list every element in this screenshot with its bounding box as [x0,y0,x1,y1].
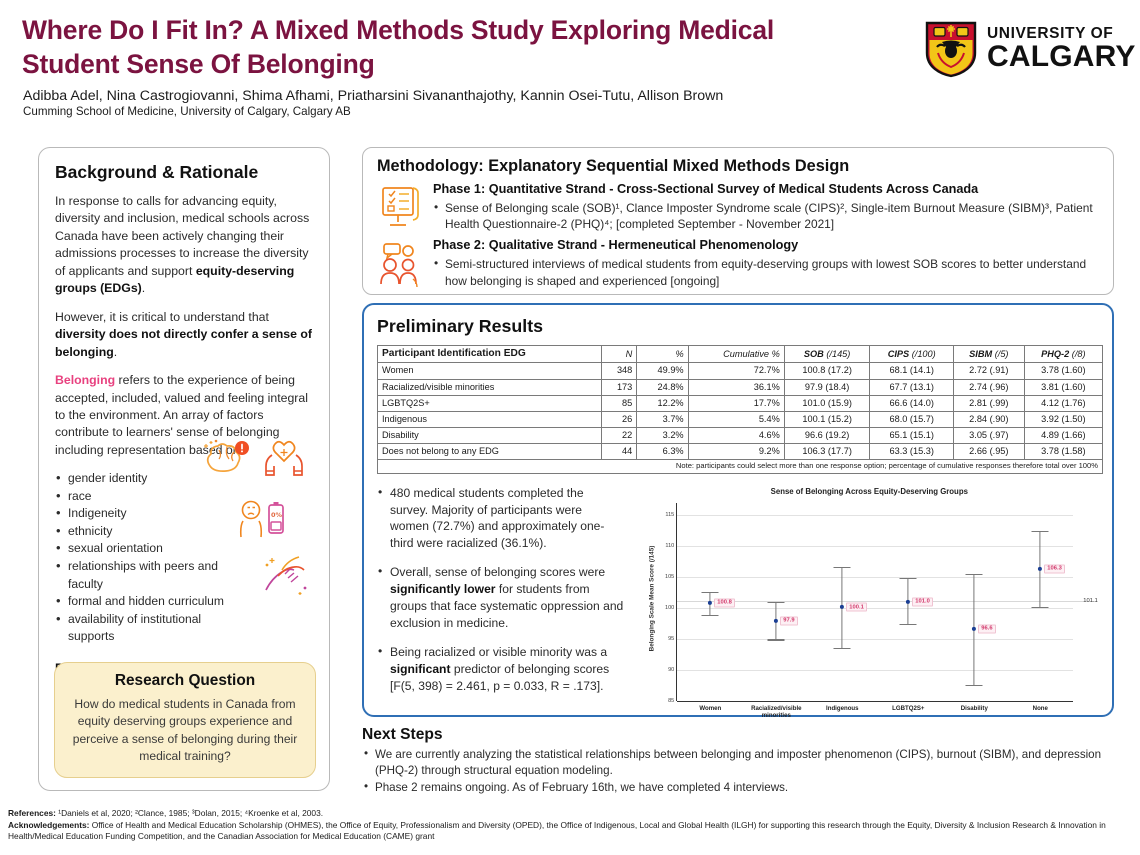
bullet-3-a: Being racialized or visible minority was… [390,645,607,659]
author-list: Adibba Adel, Nina Castrogiovanni, Shima … [23,88,923,105]
chart-x-tick: None [1005,705,1075,712]
table-row: Disability 22 3.2% 4.6% 96.6 (19.2) 65.1… [378,427,1103,443]
cell-n: 85 [601,395,637,411]
poster-footer: References: ¹Daniels et al, 2020; ²Clanc… [8,808,1132,843]
col-header-sibm-sub: (/5) [995,349,1009,359]
cell-sibm: 2.81 (.99) [953,395,1024,411]
cell-n: 44 [601,443,637,459]
chart-y-tick: 100 [665,605,674,611]
results-heading: Preliminary Results [377,316,1099,337]
chart-title: Sense of Belonging Across Equity-Deservi… [638,487,1100,496]
cell-sibm: 2.74 (.96) [953,379,1024,395]
col-header-phq-sub: (/8) [1072,349,1086,359]
cell-sob: 97.9 (18.4) [784,379,870,395]
cell-cips: 65.1 (15.1) [870,427,953,443]
belonging-keyword: Belonging [55,373,115,387]
cell-cips: 63.3 (15.3) [870,443,953,459]
col-header-phq: PHQ-2 (/8) [1024,346,1102,363]
phase-2-list: Semi-structured interviews of medical st… [433,256,1099,290]
results-table: Participant Identification EDG N % Cumul… [377,345,1103,474]
results-lower: 480 medical students completed the surve… [377,485,1099,729]
col-header-pct-text: % [675,349,683,359]
col-header-edg: Participant Identification EDG [378,346,602,363]
chart-point-label: 100.8 [714,598,735,607]
list-item: Sense of Belonging scale (SOB)¹, Clance … [433,200,1099,234]
cell-cumpct: 36.1% [688,379,784,395]
background-paragraph-3: Belonging refers to the experience of be… [55,372,313,459]
next-steps-list: We are currently analyzing the statistic… [362,747,1114,796]
calgary-shield-icon [925,20,977,78]
chart-error-cap [900,624,917,625]
factors-list: gender identity race Indigeneity ethnici… [55,470,313,645]
chart-error-cap [834,648,851,649]
chart-point-label: 100.1 [846,603,867,612]
chart-y-tick: 85 [668,698,674,704]
col-header-cumpct-text: Cumulative % [723,349,780,359]
col-header-sibm: SIBM (/5) [953,346,1024,363]
background-rationale-card: Background & Rationale In response to ca… [38,147,330,791]
table-row: Racialized/visible minorities 173 24.8% … [378,379,1103,395]
poster-root: Where Do I Fit In? A Mixed Methods Study… [0,0,1140,855]
table-note-row: Note: participants could select more tha… [378,459,1103,473]
table-row: Does not belong to any EDG 44 6.3% 9.2% … [378,443,1103,459]
bg-p2-a: However, it is critical to understand th… [55,310,269,324]
cell-sob: 100.1 (15.2) [784,411,870,427]
phase-1-body: Phase 1: Quantitative Strand - Cross-Sec… [433,181,1099,233]
poster-header: Where Do I Fit In? A Mixed Methods Study… [0,0,1140,128]
university-logo: UNIVERSITY OF CALGARY [925,18,1115,80]
chart-y-tick: 90 [668,667,674,673]
chart-point-label: 96.6 [978,624,995,633]
chart-gridline: 85 [677,701,1073,702]
cell-phq: 3.92 (1.50) [1024,411,1102,427]
list-item: sexual orientation [55,540,231,558]
col-header-cumpct: Cumulative % [688,346,784,363]
chart-gridline: 110 [677,546,1073,547]
cell-cips: 68.1 (14.1) [870,363,953,379]
phase-1-block: Phase 1: Quantitative Strand - Cross-Sec… [377,181,1099,233]
chart-x-tick: LGBTQ2S+ [873,705,943,712]
page-title: Where Do I Fit In? A Mixed Methods Study… [22,14,822,82]
phase-1-list: Sense of Belonging scale (SOB)¹, Clance … [433,200,1099,234]
table-header-row: Participant Identification EDG N % Cumul… [378,346,1103,363]
cell-phq: 3.78 (1.60) [1024,363,1102,379]
cell-phq: 4.89 (1.66) [1024,427,1102,443]
chart-error-cap [768,602,785,603]
col-header-cips: CIPS (/100) [870,346,953,363]
chart-error-cap [702,615,719,616]
cell-sibm: 3.05 (.97) [953,427,1024,443]
chart-error-cap [768,639,785,640]
list-item: Overall, sense of belonging scores were … [377,564,624,632]
phase-2-body: Phase 2: Qualitative Strand - Hermeneuti… [433,237,1099,289]
chart-y-tick: 95 [668,636,674,642]
chart-gridline: 105 [677,577,1073,578]
preliminary-results-card: Preliminary Results Participant Identifi… [362,303,1114,717]
bg-p2-bold: diversity does not directly confer a sen… [55,327,312,358]
survey-monitor-icon [377,183,423,233]
next-steps-heading: Next Steps [362,726,1114,744]
chart-data-point [906,600,910,604]
list-item: ethnicity [55,523,231,541]
cell-cips: 68.0 (15.7) [870,411,953,427]
cell-sob: 96.6 (19.2) [784,427,870,443]
cell-cips: 67.7 (13.1) [870,379,953,395]
chart-error-cap [966,574,983,575]
chart-point-label: 106.3 [1044,564,1065,573]
table-note: Note: participants could select more tha… [378,459,1103,473]
col-header-sob-name: SOB [804,349,824,359]
logo-line-2: CALGARY [987,42,1136,72]
cell-sob: 101.0 (15.9) [784,395,870,411]
logo-line-1: UNIVERSITY OF [987,26,1136,42]
chart-gridline: 100 [677,608,1073,609]
list-item: Phase 2 remains ongoing. As of February … [362,780,1114,796]
acknowledgements-text: Office of Health and Medical Education S… [8,820,1106,842]
cell-pct: 24.8% [637,379,688,395]
next-steps-section: Next Steps We are currently analyzing th… [362,726,1114,797]
list-item: availability of institutional supports [55,611,231,646]
chart-data-point [1038,567,1042,571]
list-item: 480 medical students completed the surve… [377,485,624,553]
chart-y-tick: 115 [665,512,674,518]
chart-point-label: 101.0 [912,597,933,606]
cell-n: 173 [601,379,637,395]
cell-edg: Indigenous [378,411,602,427]
background-paragraph-1: In response to calls for advancing equit… [55,193,313,298]
chart-plot-area: 859095100105110115101.1100.8Women97.9Rac… [676,503,1072,701]
logo-wordmark: UNIVERSITY OF CALGARY [987,26,1136,73]
col-header-pct: % [637,346,688,363]
chart-y-tick: 105 [665,574,674,580]
cell-n: 348 [601,363,637,379]
cell-pct: 49.9% [637,363,688,379]
table-body: Women 348 49.9% 72.7% 100.8 (17.2) 68.1 … [378,363,1103,473]
cell-pct: 3.7% [637,411,688,427]
chart-x-tick: Indigenous [807,705,877,712]
cell-pct: 12.2% [637,395,688,411]
results-bullets: 480 medical students completed the surve… [377,485,624,729]
chart-data-point [972,627,976,631]
chart-y-axis-label: Belonging Scale Mean Score (/145) [649,498,656,698]
cell-cumpct: 9.2% [688,443,784,459]
bg-p1-c: . [142,281,145,295]
list-item: race [55,488,231,506]
chart-x-tick: Racialized/visible minorities [741,705,811,720]
cell-edg: Does not belong to any EDG [378,443,602,459]
phase-2-title: Phase 2: Qualitative Strand - Hermeneuti… [433,237,1099,254]
interview-people-icon [377,239,423,289]
references-text: ¹Daniels et al, 2020; ²Clance, 1985; ³Do… [58,808,323,818]
references-label: References: [8,808,56,818]
cell-sibm: 2.66 (.95) [953,443,1024,459]
phase-2-block: Phase 2: Qualitative Strand - Hermeneuti… [377,237,1099,289]
chart-y-tick: 110 [665,543,674,549]
cell-cumpct: 5.4% [688,411,784,427]
chart-error-cap [1032,607,1049,608]
cell-sibm: 2.84 (.90) [953,411,1024,427]
background-paragraph-2: However, it is critical to understand th… [55,309,313,361]
cell-sibm: 2.72 (.91) [953,363,1024,379]
cell-cumpct: 72.7% [688,363,784,379]
chart-error-cap [900,578,917,579]
cell-phq: 4.12 (1.76) [1024,395,1102,411]
chart-gridline: 90 [677,670,1073,671]
cell-edg: LGBTQ2S+ [378,395,602,411]
col-header-sob-sub: (/145) [826,349,850,359]
belonging-chart: Sense of Belonging Across Equity-Deservi… [638,485,1099,729]
list-item: gender identity [55,470,231,488]
background-heading: Background & Rationale [55,162,313,183]
table-row: Women 348 49.9% 72.7% 100.8 (17.2) 68.1 … [378,363,1103,379]
chart-point-label: 97.9 [780,616,797,625]
references-line: References: ¹Daniels et al, 2020; ²Clanc… [8,808,1132,820]
list-item: Semi-structured interviews of medical st… [433,256,1099,290]
cell-phq: 3.78 (1.58) [1024,443,1102,459]
cell-sob: 100.8 (17.2) [784,363,870,379]
col-header-sibm-name: SIBM [969,349,992,359]
list-item: relationships with peers and faculty [55,558,231,593]
bullet-2-bold: significantly lower [390,582,496,596]
chart-error-cap [702,592,719,593]
cell-cumpct: 17.7% [688,395,784,411]
cell-cips: 66.6 (14.0) [870,395,953,411]
methodology-heading: Methodology: Explanatory Sequential Mixe… [377,157,1099,176]
cell-edg: Racialized/visible minorities [378,379,602,395]
chart-error-cap [966,685,983,686]
chart-data-point [774,619,778,623]
list-item: We are currently analyzing the statistic… [362,747,1114,779]
methodology-card: Methodology: Explanatory Sequential Mixe… [362,147,1114,295]
bullet-2-a: Overall, sense of belonging scores were [390,565,605,579]
cell-n: 22 [601,427,637,443]
acknowledgements-label: Acknowledgements: [8,820,89,830]
list-item: Indigeneity [55,505,231,523]
cell-pct: 3.2% [637,427,688,443]
chart-reference-label: 101.1 [1083,598,1098,604]
chart-x-tick: Disability [939,705,1009,712]
list-item: formal and hidden curriculum [55,593,231,611]
research-question-title: Research Question [68,672,302,690]
bg-p2-c: . [114,345,117,359]
cell-pct: 6.3% [637,443,688,459]
acknowledgements-line: Acknowledgements: Office of Health and M… [8,820,1132,843]
research-question-text: How do medical students in Canada from e… [68,696,302,765]
col-header-phq-name: PHQ-2 [1041,349,1069,359]
chart-error-cap [834,567,851,568]
cell-sob: 106.3 (17.7) [784,443,870,459]
phase-1-title: Phase 1: Quantitative Strand - Cross-Sec… [433,181,1099,198]
cell-edg: Disability [378,427,602,443]
list-item: Being racialized or visible minority was… [377,644,624,695]
table-row: Indigenous 26 3.7% 5.4% 100.1 (15.2) 68.… [378,411,1103,427]
cell-phq: 3.81 (1.60) [1024,379,1102,395]
col-header-cips-sub: (/100) [912,349,936,359]
research-question-box: Research Question How do medical student… [54,662,316,778]
chart-reference-line [677,601,1097,602]
col-header-n: N [601,346,637,363]
cell-cumpct: 4.6% [688,427,784,443]
chart-data-point [708,601,712,605]
bullet-1-text: 480 medical students completed the surve… [390,486,604,551]
affiliation: Cumming School of Medicine, University o… [23,105,923,119]
col-header-sob: SOB (/145) [784,346,870,363]
table-head: Participant Identification EDG N % Cumul… [378,346,1103,363]
cell-n: 26 [601,411,637,427]
col-header-n-text: N [626,349,633,359]
col-header-cips-name: CIPS [888,349,909,359]
chart-x-tick: Women [675,705,745,712]
table-row: LGBTQ2S+ 85 12.2% 17.7% 101.0 (15.9) 66.… [378,395,1103,411]
chart-error-cap [1032,531,1049,532]
chart-gridline: 115 [677,515,1073,516]
cell-edg: Women [378,363,602,379]
bullet-3-bold: significant [390,662,450,676]
chart-gridline: 95 [677,639,1073,640]
